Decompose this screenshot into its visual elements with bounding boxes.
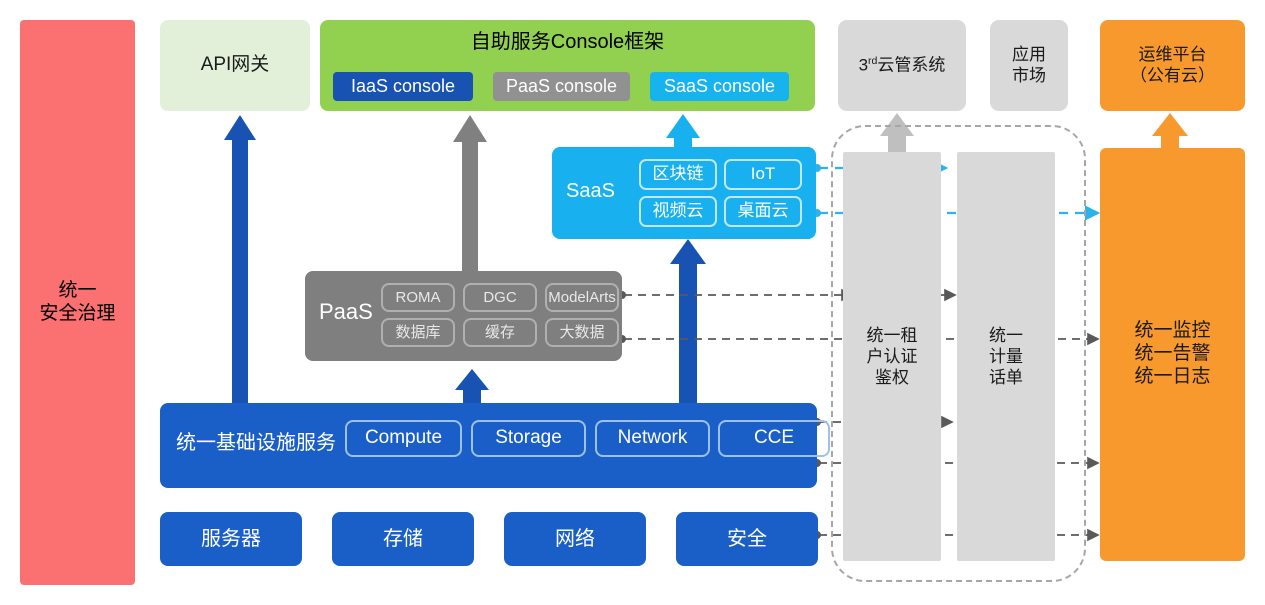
ops-platform-box: 运维平台 （公有云） <box>1100 20 1245 111</box>
paas-service-database-label: 数据库 <box>395 324 440 342</box>
shared-service-unified-metering-line1: 统一 <box>989 325 1023 346</box>
infrastructure-panel: 统一基础设施服务 Compute Storage Network CCE <box>160 403 817 488</box>
console-chip-paas-label: PaaS console <box>506 76 617 98</box>
paas-service-cache-label: 缓存 <box>485 324 515 342</box>
infra-service-compute[interactable]: Compute <box>345 420 462 457</box>
saas-service-blockchain[interactable]: 区块链 <box>639 159 717 190</box>
ops-platform-line1: 运维平台 <box>1130 45 1215 65</box>
ops-platform-line2: （公有云） <box>1130 66 1215 86</box>
resource-box-storage: 存储 <box>332 512 474 566</box>
saas-service-desktop-cloud-label: 桌面云 <box>738 201 789 221</box>
paas-panel: PaaS ROMA DGC ModelArts 数据库 缓存 大数据 <box>305 271 622 361</box>
infra-service-cce-label: CCE <box>754 427 794 450</box>
console-chip-iaas[interactable]: IaaS console <box>333 72 473 101</box>
resource-box-network-label: 网络 <box>555 527 595 551</box>
console-chip-iaas-label: IaaS console <box>351 76 455 98</box>
arrow-ops-capability-to-platform <box>1152 113 1188 152</box>
shared-service-unified-metering-line3: 话单 <box>989 367 1023 388</box>
resource-box-security: 安全 <box>676 512 818 566</box>
shared-service-unified-auth-line3: 鉴权 <box>867 367 918 388</box>
app-market-box: 应用 市场 <box>990 20 1068 111</box>
paas-label: PaaS <box>319 299 373 325</box>
infra-service-storage-label: Storage <box>495 427 562 450</box>
third-party-cloud-mgmt-suffix: 云管系统 <box>877 56 945 75</box>
paas-service-bigdata[interactable]: 大数据 <box>545 318 619 347</box>
infra-service-compute-label: Compute <box>365 427 442 450</box>
console-chip-saas[interactable]: SaaS console <box>650 72 789 101</box>
resource-box-server: 服务器 <box>160 512 302 566</box>
paas-service-bigdata-label: 大数据 <box>559 324 604 342</box>
ops-capabilities-line3: 统一日志 <box>1134 366 1210 389</box>
paas-service-dgc[interactable]: DGC <box>463 283 537 312</box>
dashed-paas-to-auth <box>618 291 852 299</box>
shared-service-unified-auth-line1: 统一租 <box>867 325 918 346</box>
security-governance-line2: 安全治理 <box>39 303 115 326</box>
console-chip-saas-label: SaaS console <box>664 76 775 98</box>
resource-box-security-label: 安全 <box>727 527 767 551</box>
saas-service-video-cloud-label: 视频云 <box>653 201 704 221</box>
paas-service-roma[interactable]: ROMA <box>381 283 455 312</box>
third-party-cloud-mgmt-label: 3rd云管系统 <box>859 55 946 76</box>
architecture-diagram: 统一 安全治理 API网关 自助服务Console框架 IaaS console… <box>0 0 1265 605</box>
infra-service-network-label: Network <box>618 427 688 450</box>
app-market-line1: 应用 <box>1012 45 1046 65</box>
shared-service-unified-auth-line2: 户认证 <box>867 346 918 367</box>
third-party-cloud-mgmt-box: 3rd云管系统 <box>838 20 966 111</box>
paas-service-roma-label: ROMA <box>396 289 441 307</box>
console-framework-panel: 自助服务Console框架 IaaS console PaaS console … <box>320 20 815 111</box>
resource-box-storage-label: 存储 <box>383 527 423 551</box>
shared-service-unified-auth: 统一租 户认证 鉴权 <box>843 152 941 561</box>
shared-service-unified-metering-line2: 计量 <box>989 346 1023 367</box>
console-framework-title: 自助服务Console框架 <box>320 30 815 54</box>
infra-service-storage[interactable]: Storage <box>471 420 586 457</box>
arrow-infra-to-apigw <box>224 115 256 405</box>
infra-service-network[interactable]: Network <box>595 420 710 457</box>
ops-capabilities-panel: 统一监控 统一告警 统一日志 <box>1100 148 1245 561</box>
paas-service-dgc-label: DGC <box>483 289 516 307</box>
saas-service-iot[interactable]: IoT <box>724 159 802 190</box>
arrow-infra-to-saas <box>670 239 706 404</box>
resource-box-network: 网络 <box>504 512 646 566</box>
saas-service-desktop-cloud[interactable]: 桌面云 <box>724 196 802 227</box>
arrow-paas-to-console <box>453 115 487 272</box>
saas-service-iot-label: IoT <box>751 164 776 184</box>
ops-capabilities-line1: 统一监控 <box>1134 320 1210 343</box>
saas-label: SaaS <box>566 179 615 203</box>
paas-service-cache[interactable]: 缓存 <box>463 318 537 347</box>
shared-service-unified-metering: 统一 计量 话单 <box>957 152 1055 561</box>
arrow-infra-to-paas <box>455 369 489 404</box>
saas-panel: SaaS 区块链 IoT 视频云 桌面云 <box>552 147 816 239</box>
resource-box-server-label: 服务器 <box>201 527 261 551</box>
arrow-saas-to-console <box>666 114 700 148</box>
saas-service-blockchain-label: 区块链 <box>653 164 704 184</box>
console-chip-paas[interactable]: PaaS console <box>493 72 630 101</box>
app-market-line2: 市场 <box>1012 66 1046 86</box>
paas-service-modelarts[interactable]: ModelArts <box>545 283 619 312</box>
saas-service-video-cloud[interactable]: 视频云 <box>639 196 717 227</box>
ops-capabilities-line2: 统一告警 <box>1134 343 1210 366</box>
infra-service-cce[interactable]: CCE <box>718 420 830 457</box>
api-gateway-box: API网关 <box>160 20 310 111</box>
paas-service-database[interactable]: 数据库 <box>381 318 455 347</box>
infrastructure-label: 统一基础设施服务 <box>176 431 336 455</box>
security-governance-line1: 统一 <box>39 280 115 303</box>
api-gateway-label: API网关 <box>201 54 270 77</box>
security-governance-panel: 统一 安全治理 <box>20 20 135 585</box>
paas-service-modelarts-label: ModelArts <box>548 289 616 307</box>
third-party-cloud-mgmt-prefix: 3 <box>859 56 868 75</box>
